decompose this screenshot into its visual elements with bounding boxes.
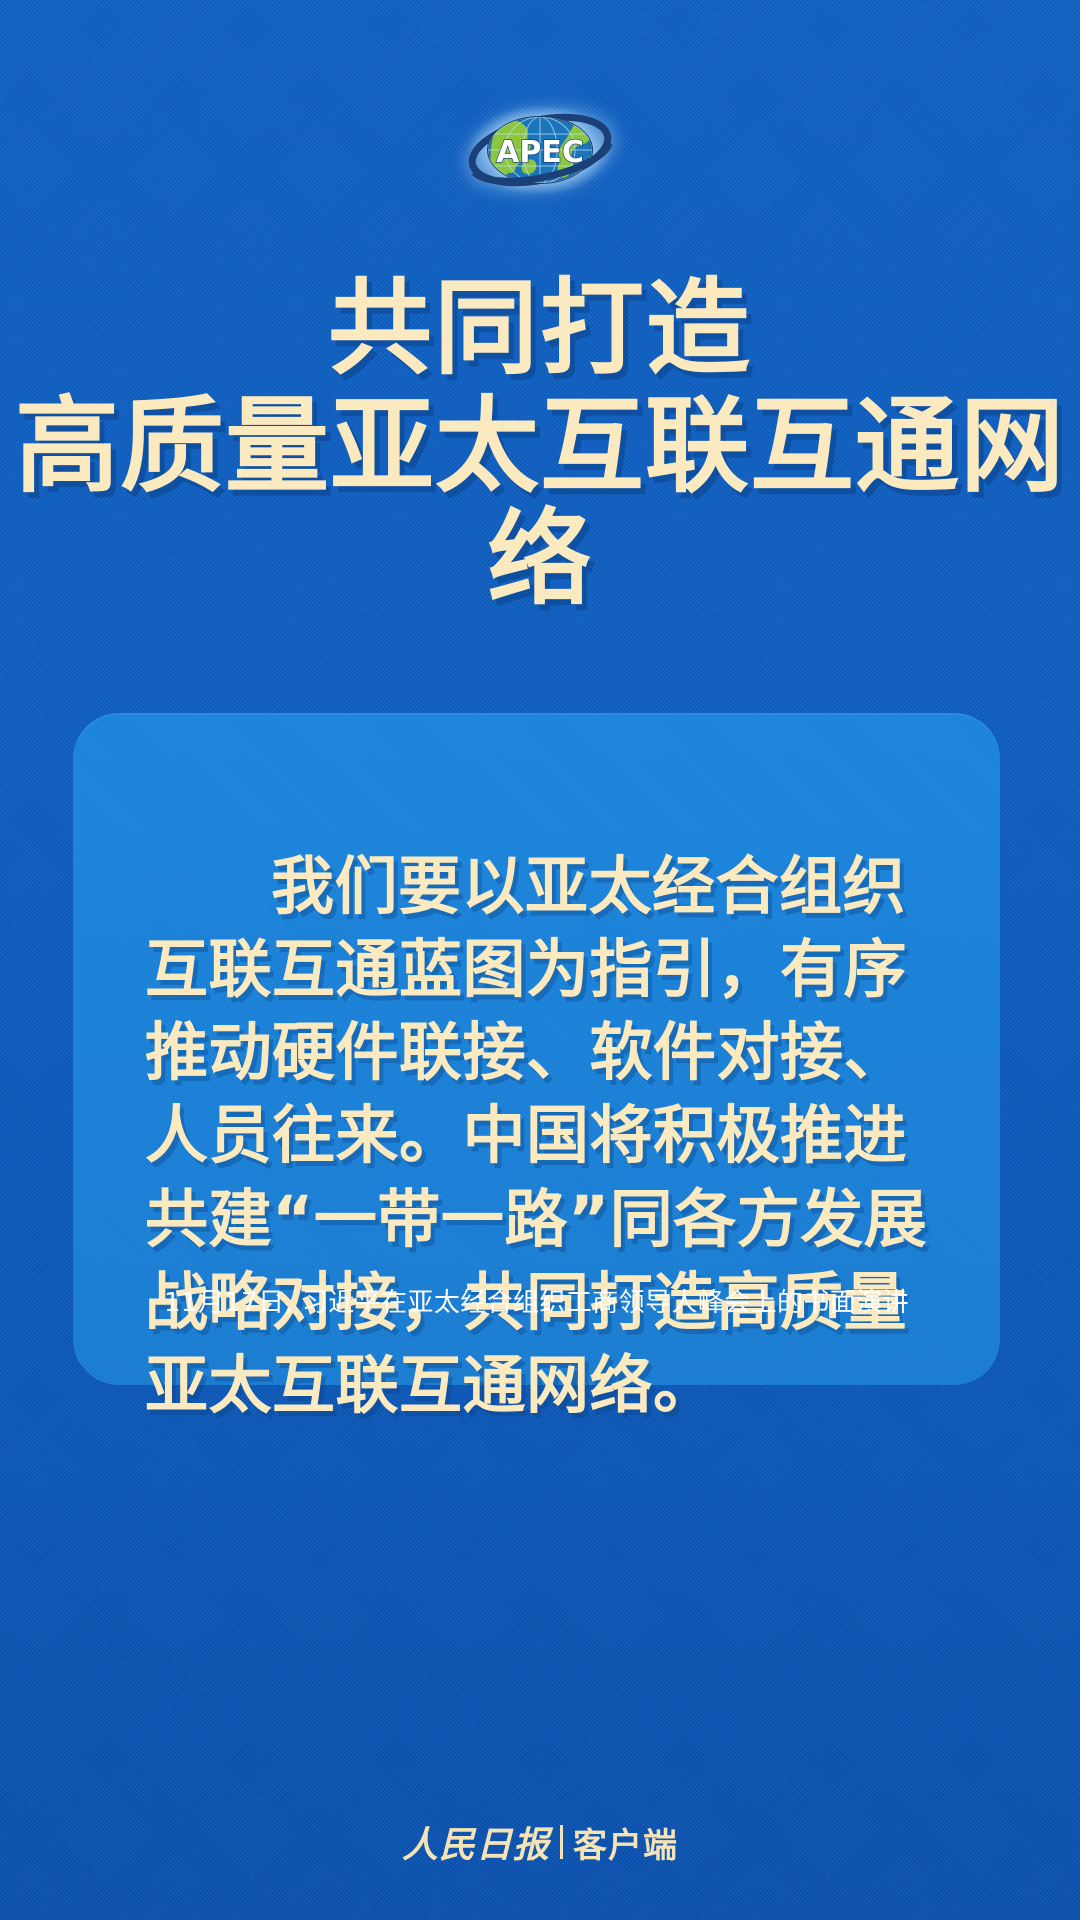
footer-app-name: 客户端 (573, 1818, 678, 1867)
svg-text:APEC: APEC (496, 135, 584, 170)
poster-page: APEC 共同打造 高质量亚太互联互通网络 我们要以亚太经合组织互联互通蓝图为指… (0, 0, 1080, 1920)
logo-container: APEC (0, 104, 1080, 196)
quote-card: 我们要以亚太经合组织互联互通蓝图为指引，有序推动硬件联接、软件对接、人员往来。中… (73, 713, 1000, 1385)
footer-logo: 人民日报 客户端 (0, 1816, 1080, 1868)
title-line-1: 共同打造 (0, 272, 1080, 384)
footer-brand-name: 人民日报 (402, 1816, 550, 1868)
quote-attribution: 11月17日, 习近平在亚太经合组织工商领导人峰会上的书面演讲 (73, 1282, 1000, 1319)
page-title: 共同打造 高质量亚太互联互通网络 (0, 272, 1080, 615)
title-line-2: 高质量亚太互联互通网络 (0, 390, 1080, 615)
quote-text: 我们要以亚太经合组织互联互通蓝图为指引，有序推动硬件联接、软件对接、人员往来。中… (145, 845, 928, 1427)
apec-logo: APEC (465, 104, 615, 196)
footer-separator-icon (560, 1825, 563, 1859)
